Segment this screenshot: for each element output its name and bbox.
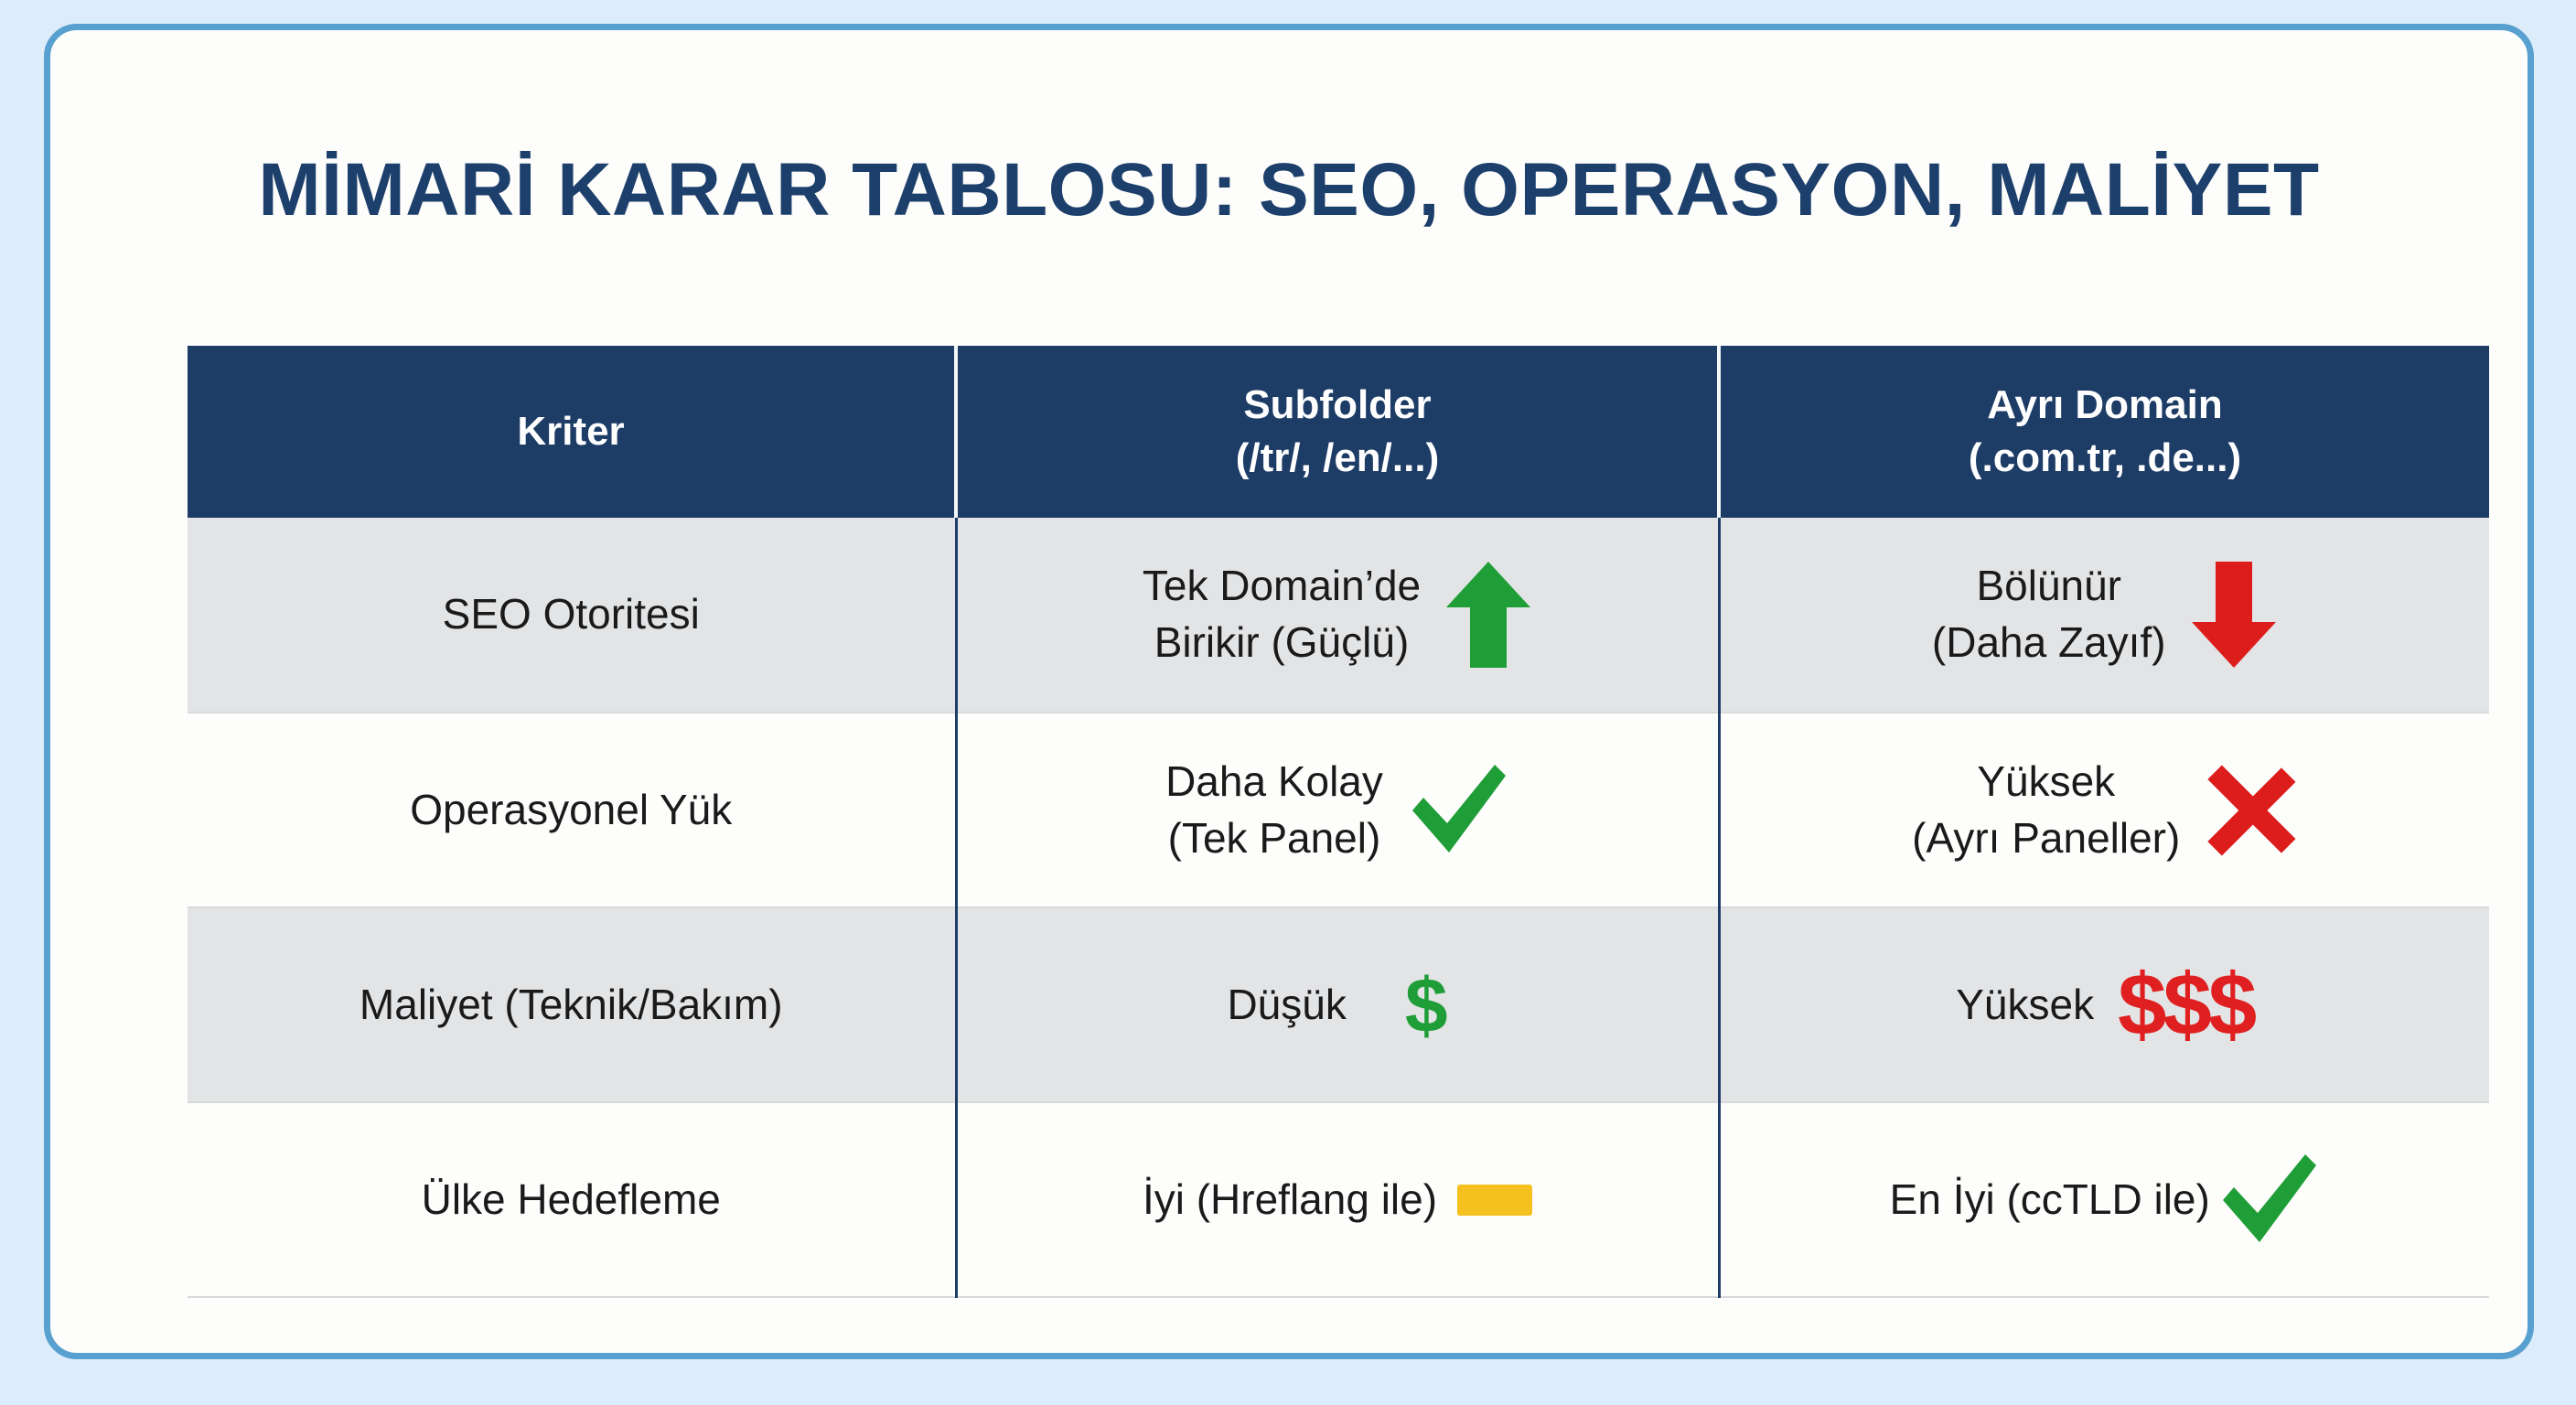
column-header-subfolder-sublabel: (/tr/, /en/...) [969, 432, 1706, 485]
column-header-separate-domain: Ayrı Domain (.com.tr, .de...) [1719, 346, 2489, 518]
decision-table-container: Kriter Subfolder (/tr/, /en/...) Ayrı Do… [188, 346, 2489, 1298]
cell-subfolder: Tek Domain’de Birikir (Güçlü) [956, 518, 1719, 713]
column-header-criterion-label: Kriter [517, 409, 624, 454]
cell-separate-domain: Yüksek $$$ [1719, 907, 2489, 1102]
column-header-criterion: Kriter [188, 346, 956, 518]
cell-subfolder: Düşük $ [956, 907, 1719, 1102]
table-row: SEO Otoritesi Tek Domain’de Birikir (Güç… [188, 518, 2489, 713]
separate-domain-value-line2: (Daha Zayıf) [1932, 615, 2166, 671]
cell-subfolder: Daha Kolay (Tek Panel) [956, 713, 1719, 907]
checkmark-icon [2217, 1153, 2320, 1248]
separate-domain-value-line1: Yüksek [1977, 757, 2115, 805]
table-head: Kriter Subfolder (/tr/, /en/...) Ayrı Do… [188, 346, 2489, 518]
table-header-row: Kriter Subfolder (/tr/, /en/...) Ayrı Do… [188, 346, 2489, 518]
neutral-bar-icon [1457, 1185, 1532, 1216]
triple-dollar-sign-icon: $$$ [2118, 961, 2253, 1049]
cell-criterion: Maliyet (Teknik/Bakım) [188, 907, 956, 1102]
criterion-label: Maliyet (Teknik/Bakım) [200, 977, 942, 1034]
page-title: MİMARİ KARAR TABLOSU: SEO, OPERASYON, MA… [50, 147, 2528, 233]
arrow-down-icon [2190, 560, 2278, 670]
subfolder-value-line1: Daha Kolay [1165, 757, 1383, 805]
subfolder-value-line1: Düşük [1227, 981, 1346, 1028]
slide-card: MİMARİ KARAR TABLOSU: SEO, OPERASYON, MA… [44, 24, 2534, 1359]
separate-domain-value-line1: Yüksek [1956, 981, 2094, 1028]
cell-separate-domain: Bölünür (Daha Zayıf) [1719, 518, 2489, 713]
column-header-subfolder: Subfolder (/tr/, /en/...) [956, 346, 1719, 518]
subfolder-value-line1: Tek Domain’de [1143, 562, 1421, 609]
cross-icon [2204, 764, 2297, 857]
table-row: Operasyonel Yük Daha Kolay (Tek Panel) [188, 713, 2489, 907]
table-row: Ülke Hedefleme İyi (Hreflang ile) [188, 1102, 2489, 1297]
cell-criterion: Operasyonel Yük [188, 713, 956, 907]
cell-criterion: SEO Otoritesi [188, 518, 956, 713]
separate-domain-value-line2: (Ayrı Paneller) [1912, 810, 2180, 867]
criterion-label: Ülke Hedefleme [200, 1172, 942, 1228]
cell-criterion: Ülke Hedefleme [188, 1102, 956, 1297]
dollar-sign-icon: $ [1405, 967, 1448, 1044]
subfolder-value-line2: (Tek Panel) [1165, 810, 1383, 867]
cell-separate-domain: Yüksek (Ayrı Paneller) [1719, 713, 2489, 907]
triple-dollar-sign-glyph: $$$ [2118, 961, 2253, 1049]
separate-domain-value-line1: Bölünür [1976, 562, 2121, 609]
subfolder-value-line1: İyi (Hreflang ile) [1143, 1175, 1437, 1223]
table-body: SEO Otoritesi Tek Domain’de Birikir (Güç… [188, 518, 2489, 1297]
column-header-separate-domain-sublabel: (.com.tr, .de...) [1732, 432, 2478, 485]
cell-subfolder: İyi (Hreflang ile) [956, 1102, 1719, 1297]
arrow-up-icon [1444, 560, 1532, 670]
decision-table: Kriter Subfolder (/tr/, /en/...) Ayrı Do… [188, 346, 2489, 1298]
separate-domain-value-line1: En İyi (ccTLD ile) [1890, 1175, 2210, 1223]
criterion-label: SEO Otoritesi [200, 586, 942, 643]
dollar-sign-glyph: $ [1405, 967, 1448, 1044]
column-header-separate-domain-label: Ayrı Domain [1987, 382, 2223, 427]
criterion-label: Operasyonel Yük [200, 782, 942, 839]
subfolder-value-line2: Birikir (Güçlü) [1143, 615, 1421, 671]
table-row: Maliyet (Teknik/Bakım) Düşük $ [188, 907, 2489, 1102]
checkmark-icon [1407, 763, 1509, 858]
column-header-subfolder-label: Subfolder [1243, 382, 1431, 427]
cell-separate-domain: En İyi (ccTLD ile) [1719, 1102, 2489, 1297]
